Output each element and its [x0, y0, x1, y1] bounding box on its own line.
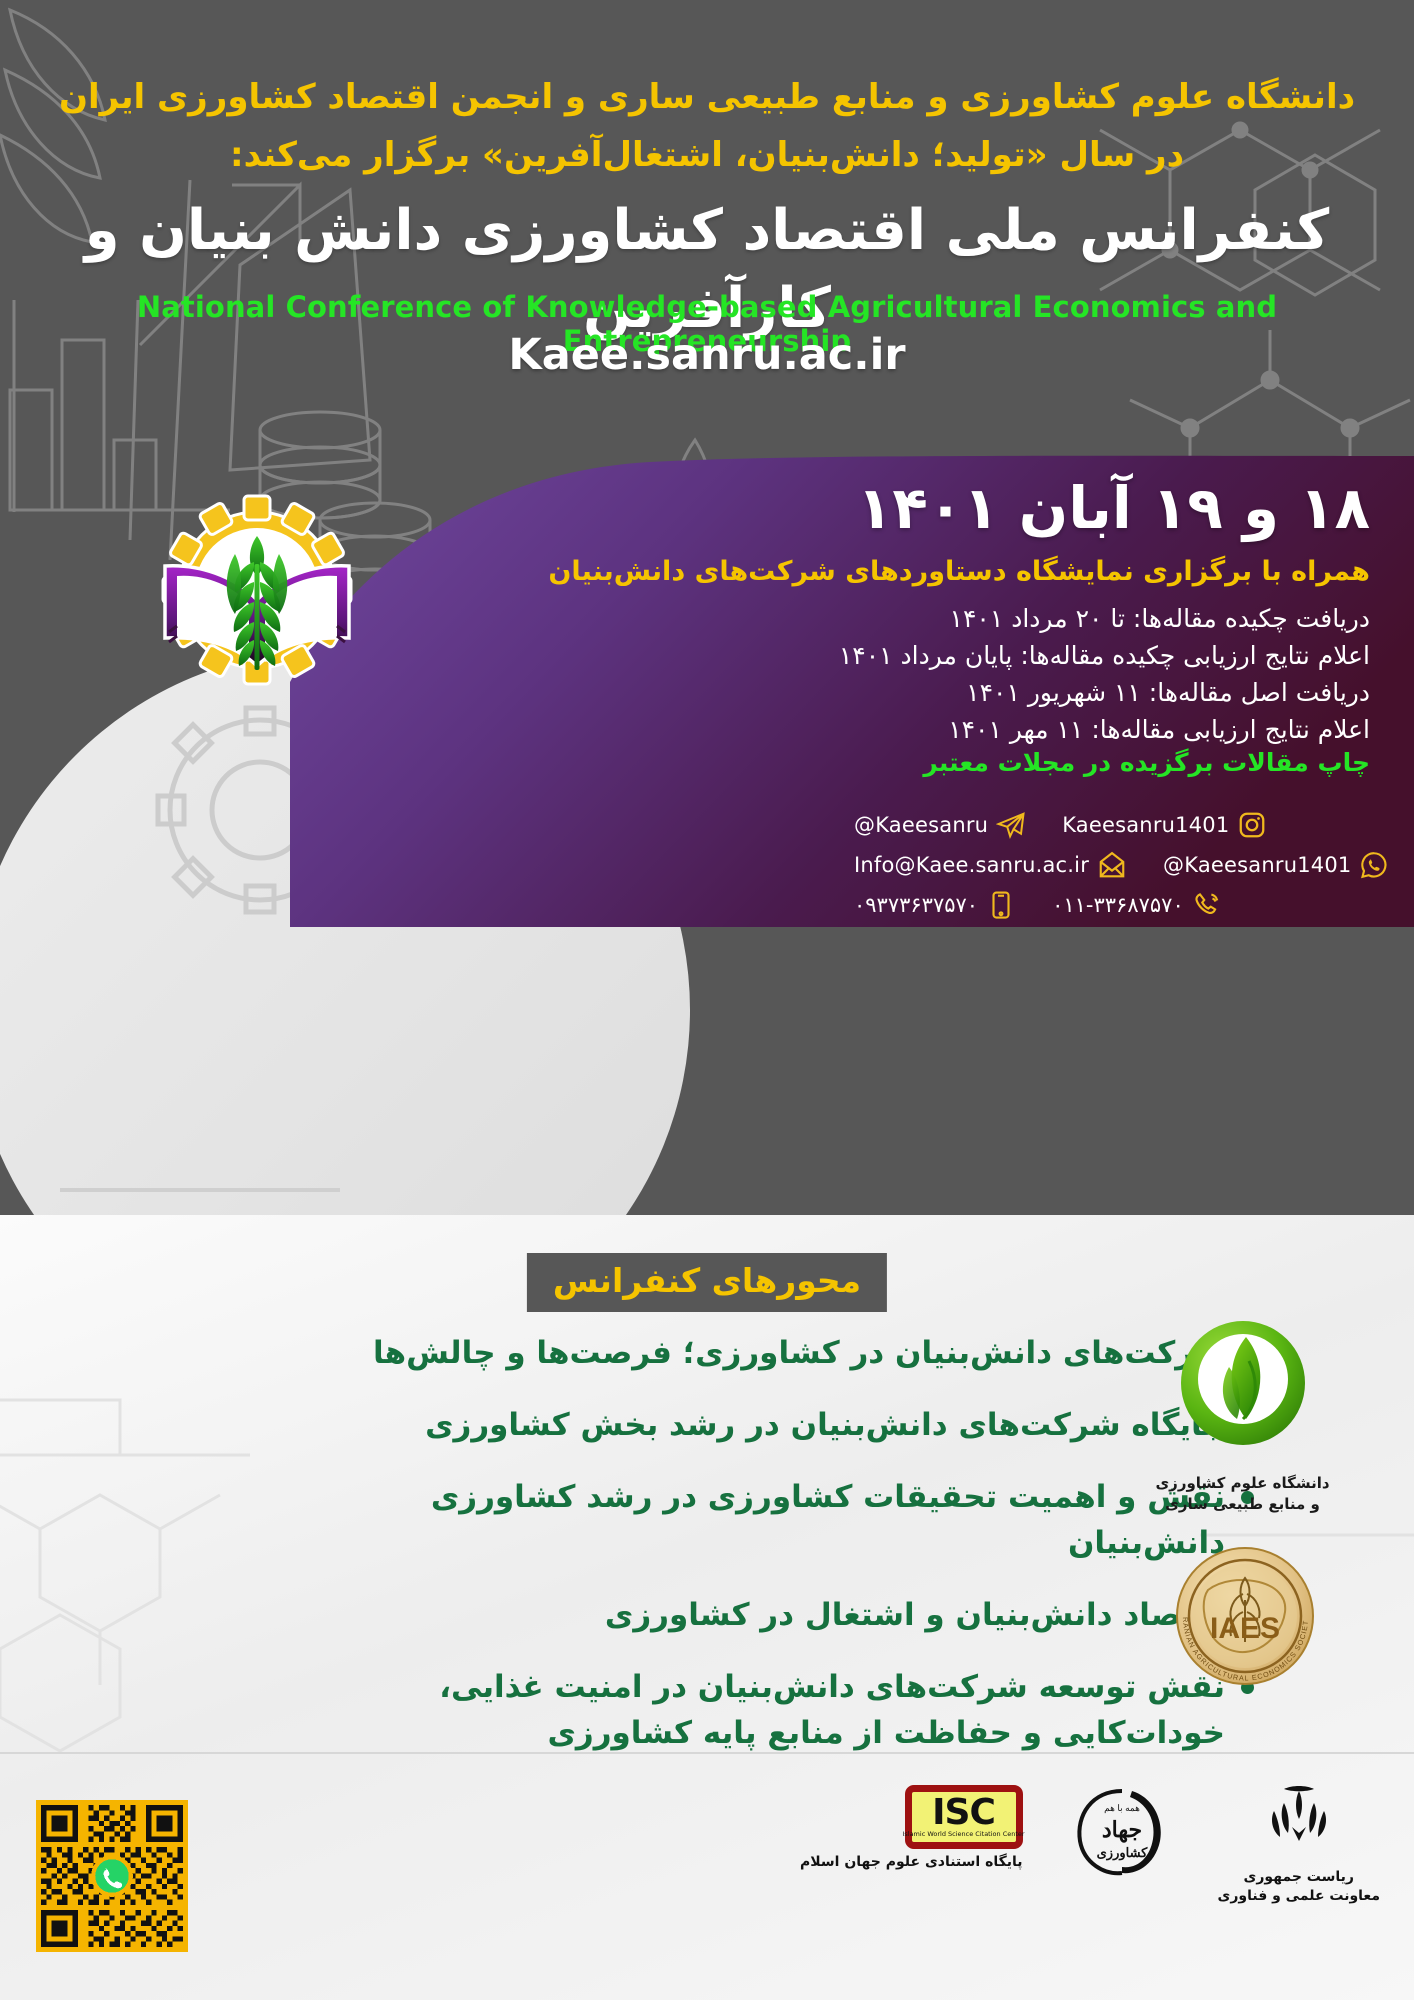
hame-ba-ham-label: همه با هم: [1104, 1803, 1140, 1814]
sanru-caption: دانشگاه علوم کشاورزی و منابع طبیعی ساری: [1155, 1473, 1330, 1515]
event-expo-note: همراه با برگزاری نمایشگاه دستاوردهای شرک…: [548, 552, 1370, 592]
iaes-logo: IAES IRANIAN AGRICULTURAL ECONOMICS SOCI…: [1163, 1532, 1328, 1697]
jahad-label: جهاد: [1102, 1817, 1142, 1843]
contact-row: Kaeesanru1401 @Kaeesanru: [854, 810, 1374, 840]
contact-telegram-handle: @Kaeesanru: [854, 813, 988, 837]
header-line-1: دانشگاه علوم کشاورزی و منابع طبیعی ساری …: [0, 68, 1414, 126]
contact-instagram-handle: Kaeesanru1401: [1062, 813, 1229, 837]
isc-badge: ISC Islamic World Science Citation Cente…: [905, 1785, 1023, 1849]
topic-item: اقتصاد دانش‌بنیان و اشتغال در کشاورزی: [324, 1592, 1254, 1638]
header-line-2: در سال «تولید؛ دانش‌بنیان، اشتغال‌آفرین»…: [0, 126, 1414, 184]
contact-mobile[interactable]: ۰۹۳۷۳۶۳۷۵۷۰: [854, 890, 1016, 920]
contact-row: @Kaeesanru1401 Info@Kaee.sanru.ac.ir: [854, 850, 1374, 880]
footer-sponsor-logos: ریاست جمهوری معاونت علمی و فناوری جهاد ک…: [800, 1785, 1380, 1955]
deadline-item: اعلام نتایج ارزیابی مقاله‌ها: ۱۱ مهر ۱۴۰…: [839, 711, 1370, 748]
deadlines-list: دریافت چکیده مقاله‌ها: تا ۲۰ مرداد ۱۴۰۱ …: [839, 600, 1370, 748]
topics-section-banner: محورهای کنفرانس: [527, 1253, 887, 1312]
event-date: ۱۸ و ۱۹ آبان ۱۴۰۱: [857, 472, 1370, 544]
topic-label: شرکت‌های دانش‌بنیان در کشاورزی؛ فرصت‌ها …: [324, 1330, 1225, 1376]
iran-emblem-icon: [1254, 1785, 1344, 1860]
keshavarzi-label: کشاورزی: [1097, 1845, 1149, 1861]
contact-email[interactable]: Info@Kaee.sanru.ac.ir: [854, 850, 1127, 880]
journal-publication-note: چاپ مقالات برگزیده در مجلات معتبر: [923, 748, 1370, 777]
isc-caption: پایگاه استنادی علوم جهان اسلام: [800, 1853, 1023, 1872]
conference-emblem-logo: [140, 478, 375, 693]
iaes-acronym: IAES: [1210, 1612, 1280, 1645]
phone-ring-icon: [1192, 890, 1222, 920]
presidency-caption-line1: ریاست جمهوری: [1218, 1868, 1381, 1887]
contact-mobile-number: ۰۹۳۷۳۶۳۷۵۷۰: [854, 893, 978, 917]
contact-landline[interactable]: ۰۱۱-۳۳۶۸۷۵۷۰: [1052, 890, 1222, 920]
isc-subtitle: Islamic World Science Citation Center: [902, 1830, 1024, 1838]
presidency-caption-line2: معاونت علمی و فناوری: [1218, 1887, 1381, 1906]
conference-website-url[interactable]: Kaee.sanru.ac.ir: [0, 330, 1414, 380]
isc-logo: ISC Islamic World Science Citation Cente…: [800, 1785, 1023, 1872]
email-icon: [1097, 850, 1127, 880]
telegram-icon: [996, 810, 1026, 840]
isc-acronym: ISC: [932, 1796, 995, 1830]
topics-list: شرکت‌های دانش‌بنیان در کشاورزی؛ فرصت‌ها …: [324, 1330, 1254, 1782]
topic-item: جایگاه شرکت‌های دانش‌بنیان در رشد بخش کش…: [324, 1402, 1254, 1448]
presidency-caption: ریاست جمهوری معاونت علمی و فناوری: [1218, 1868, 1381, 1906]
deadline-item: دریافت اصل مقاله‌ها: ۱۱ شهریور ۱۴۰۱: [839, 674, 1370, 711]
sanru-university-logo: دانشگاه علوم کشاورزی و منابع طبیعی ساری: [1155, 1315, 1330, 1515]
header-institution-lines: دانشگاه علوم کشاورزی و منابع طبیعی ساری …: [0, 68, 1414, 184]
sanru-leaf-emblem-icon: [1163, 1315, 1323, 1465]
contact-row: ۰۱۱-۳۳۶۸۷۵۷۰ ۰۹۳۷۳۶۳۷۵۷۰: [854, 890, 1374, 920]
presidency-science-technology-logo: ریاست جمهوری معاونت علمی و فناوری: [1218, 1785, 1381, 1906]
mobile-icon: [986, 890, 1016, 920]
contact-email-address: Info@Kaee.sanru.ac.ir: [854, 853, 1089, 877]
sanru-caption-line1: دانشگاه علوم کشاورزی: [1155, 1473, 1330, 1494]
whatsapp-icon: [1359, 850, 1389, 880]
contact-whatsapp-handle: @Kaeesanru1401: [1163, 853, 1351, 877]
qr-code[interactable]: [36, 1800, 188, 1952]
contact-whatsapp[interactable]: @Kaeesanru1401: [1163, 850, 1389, 880]
topic-label: نقش توسعه شرکت‌های دانش‌بنیان در امنیت غ…: [324, 1664, 1225, 1756]
instagram-icon: [1237, 810, 1267, 840]
topic-label: نقش و اهمیت تحقیقات کشاورزی در رشد کشاور…: [324, 1474, 1225, 1566]
topic-item: نقش توسعه شرکت‌های دانش‌بنیان در امنیت غ…: [324, 1664, 1254, 1756]
contact-info-block: Kaeesanru1401 @Kaeesanru: [854, 810, 1374, 930]
contact-telegram[interactable]: @Kaeesanru: [854, 810, 1026, 840]
topic-item: نقش و اهمیت تحقیقات کشاورزی در رشد کشاور…: [324, 1474, 1254, 1566]
jahad-keshavarzi-logo: جهاد کشاورزی همه با هم: [1070, 1785, 1170, 1884]
jahad-emblem-icon: جهاد کشاورزی همه با هم: [1070, 1785, 1170, 1880]
topic-label: جایگاه شرکت‌های دانش‌بنیان در رشد بخش کش…: [324, 1402, 1225, 1448]
sanru-caption-line2: و منابع طبیعی ساری: [1155, 1494, 1330, 1515]
contact-landline-number: ۰۱۱-۳۳۶۸۷۵۷۰: [1052, 893, 1184, 917]
deadline-item: دریافت چکیده مقاله‌ها: تا ۲۰ مرداد ۱۴۰۱: [839, 600, 1370, 637]
contact-instagram[interactable]: Kaeesanru1401: [1062, 810, 1267, 840]
deadline-item: اعلام نتایج ارزیابی چکیده مقاله‌ها: پایا…: [839, 637, 1370, 674]
topic-item: شرکت‌های دانش‌بنیان در کشاورزی؛ فرصت‌ها …: [324, 1330, 1254, 1376]
conference-poster: دانشگاه علوم کشاورزی و منابع طبیعی ساری …: [0, 0, 1414, 2000]
topic-label: اقتصاد دانش‌بنیان و اشتغال در کشاورزی: [324, 1592, 1225, 1638]
